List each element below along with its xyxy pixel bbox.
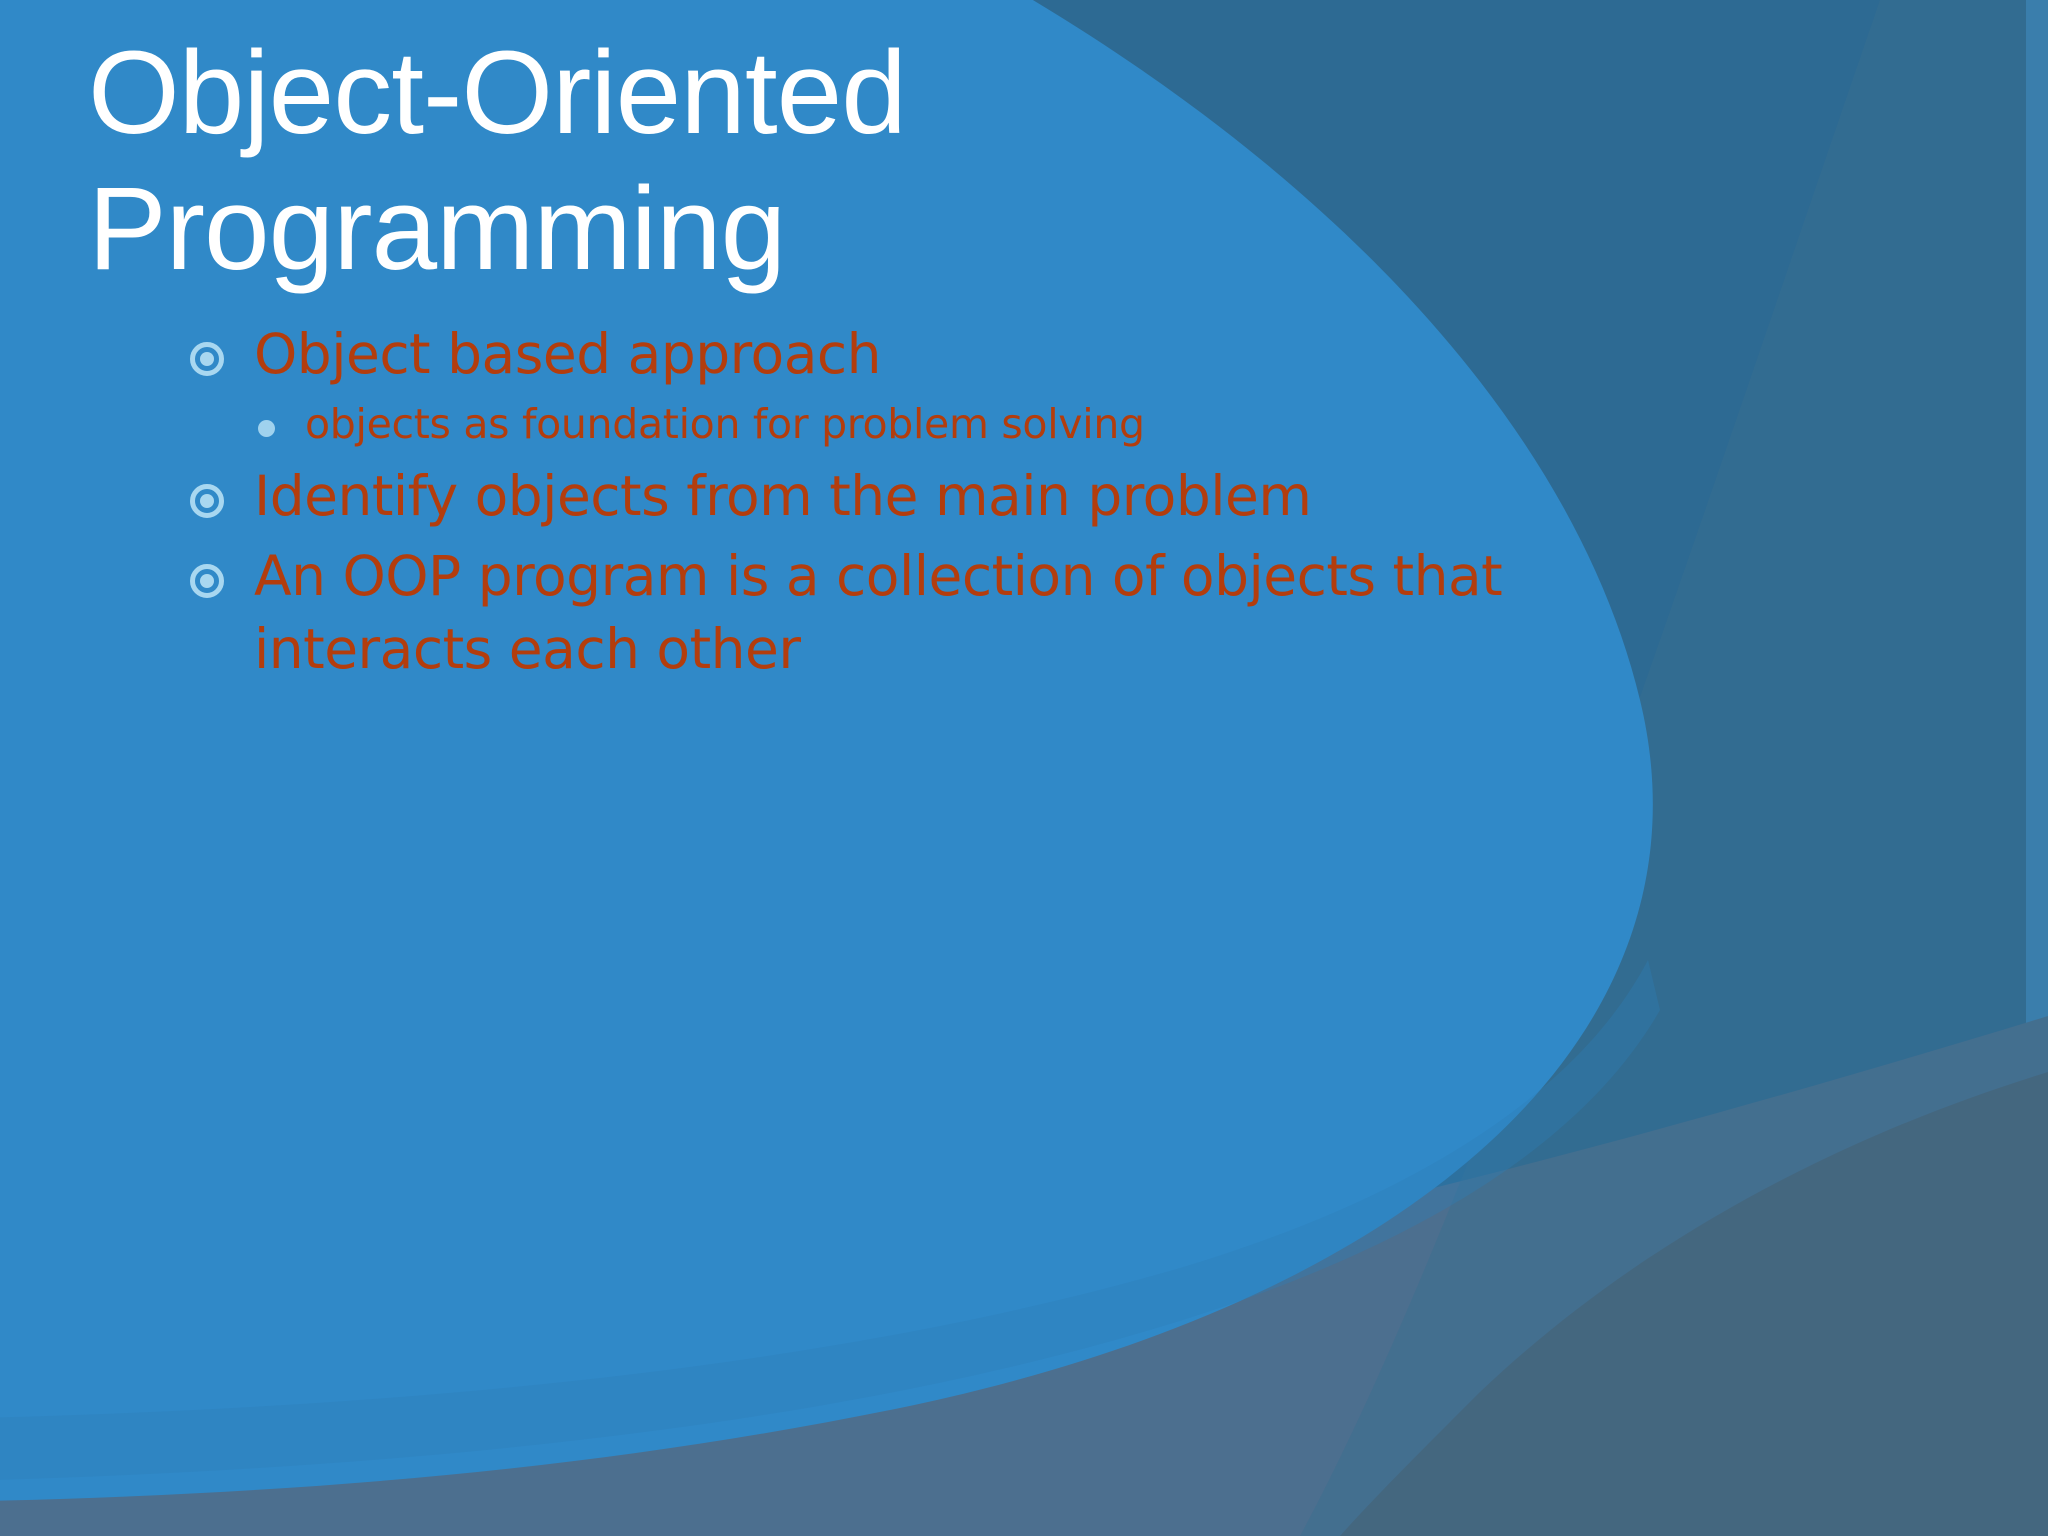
bullet-item: Identify objects from the main problem: [190, 460, 1710, 533]
bullet-item: objects as foundation for problem solvin…: [190, 397, 1710, 452]
bullseye-bullet-icon: [190, 564, 224, 598]
page-title: Object-Oriented Programming: [88, 26, 1268, 297]
presentation-slide: Object-Oriented Programming Object based…: [0, 0, 2048, 1536]
slide-title-block: Object-Oriented Programming: [88, 26, 1268, 297]
slide-body-content: Object based approach objects as foundat…: [190, 318, 1710, 692]
bullseye-bullet-icon: [190, 484, 224, 518]
bullet-text: Identify objects from the main problem: [254, 460, 1311, 533]
bullet-text: An OOP program is a collection of object…: [254, 540, 1710, 686]
bullet-item: Object based approach: [190, 318, 1710, 391]
bullseye-bullet-icon: [190, 342, 224, 376]
bullet-item: An OOP program is a collection of object…: [190, 540, 1710, 686]
dot-bullet-icon: [258, 420, 275, 437]
bullet-text: Object based approach: [254, 318, 881, 391]
bullet-text: objects as foundation for problem solvin…: [305, 397, 1145, 452]
